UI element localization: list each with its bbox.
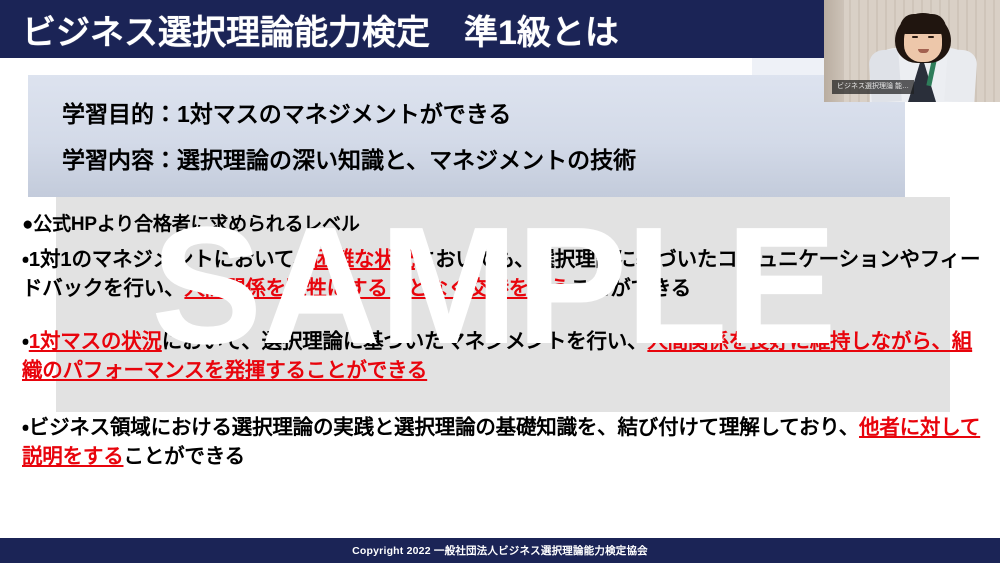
presenter-bangs [900,14,946,34]
requirement-bullet-1: ・1対1のマネジメントにおいて、困難な状況においても、選択理論に基づいたコミュニ… [22,245,987,303]
bullet1-seg1: ・1対1のマネジメントにおいて、 [22,248,313,271]
slide-footer-bar: Copyright 2022 一般社団法人ビジネス選択理論能力検定協会 [0,538,1000,563]
presenter-jacket-right [944,49,978,102]
bullet1-highlight-2: 人間関係を犠牲にすることなく交渉を行う [184,277,569,300]
presenter-video-tile[interactable]: ビジネス選択理論 能… [824,0,1000,102]
bullet2-highlight-1: 1対マスの状況 [29,330,162,353]
bullet1-highlight-1: 困難な状況 [313,248,415,271]
objective-box: 学習目的：1対マスのマネジメントができる 学習内容：選択理論の深い知識と、マネジ… [28,75,905,197]
learning-purpose-line: 学習目的：1対マスのマネジメントができる [62,95,511,129]
official-hp-note: ●公式HPより合格者に求められるレベル [22,210,987,239]
requirement-bullet-3: ・ビジネス領域における選択理論の実践と選択理論の基礎知識を、結び付けて理解してお… [22,413,987,471]
slide-title: ビジネス選択理論能力検定 準1級とは [22,2,619,56]
bullet1-seg5: ことができる [570,277,691,300]
bullet3-seg3: ことができる [124,445,245,468]
bullet2-seg1: ・ [22,330,29,353]
presenter-eye-left [912,36,918,38]
presenter-eye-right [928,36,934,38]
learning-content-line: 学習内容：選択理論の深い知識と、マネジメントの技術 [62,141,636,175]
bullet3-seg1: ・ビジネス領域における選択理論の実践と選択理論の基礎知識を、結び付けて理解してお… [22,416,859,439]
participant-name-label: ビジネス選択理論 能… [832,80,914,94]
copyright-text: Copyright 2022 一般社団法人ビジネス選択理論能力検定協会 [352,543,648,558]
bullet2-seg3: において、選択理論に基づいたマネジメントを行い、 [162,330,648,353]
body-text-block: ●公式HPより合格者に求められるレベル ・1対1のマネジメントにおいて、困難な状… [22,210,987,471]
presenter-jacket-left [868,49,902,102]
presentation-slide: ビジネス選択理論能力検定 準1級とは 学習目的：1対マスのマネジメントができる … [0,0,1000,563]
requirement-bullet-2: ・1対マスの状況において、選択理論に基づいたマネジメントを行い、人間関係を良好に… [22,327,987,385]
